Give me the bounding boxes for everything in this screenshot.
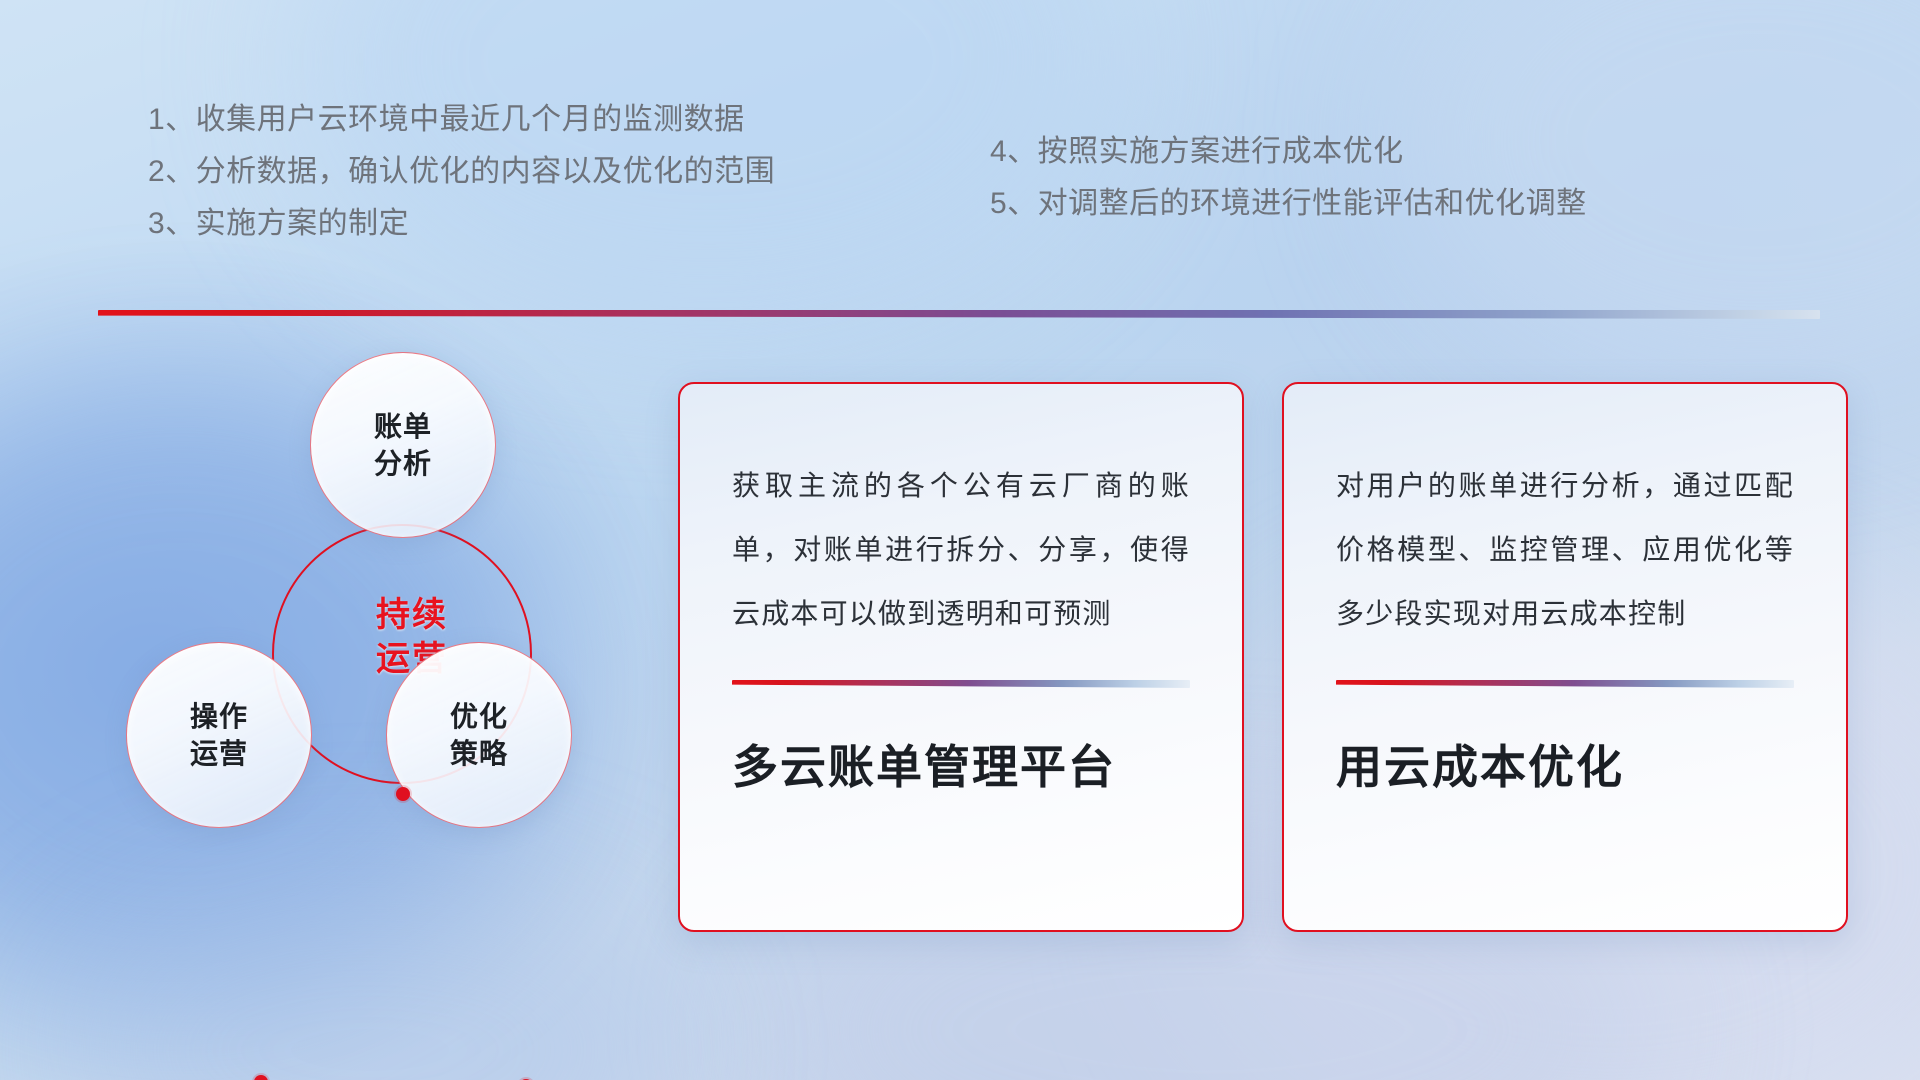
card-2-title: 用云成本优化 bbox=[1336, 742, 1794, 793]
venn-bubble-billing-analysis[interactable]: 账单 分析 bbox=[310, 352, 496, 538]
slide-canvas: 1、收集用户云环境中最近几个月的监测数据 2、分析数据，确认优化的内容以及优化的… bbox=[0, 0, 1920, 1080]
card-2-divider bbox=[1336, 680, 1794, 688]
venn-bubble-2-line-2: 运营 bbox=[190, 737, 248, 770]
venn-bubble-optimization-strategy[interactable]: 优化 策略 bbox=[386, 642, 572, 828]
venn-bubble-1-line-1: 账单 bbox=[374, 410, 432, 443]
venn-node-dot-left bbox=[254, 1075, 268, 1080]
venn-node-dot-top bbox=[396, 787, 410, 801]
venn-bubble-operations[interactable]: 操作 运营 bbox=[126, 642, 312, 828]
step-item-1: 1、收集用户云环境中最近几个月的监测数据 bbox=[148, 94, 848, 146]
card-1-body: 获取主流的各个公有云厂商的账单，对账单进行拆分、分享，使得云成本可以做到透明和可… bbox=[732, 454, 1190, 646]
steps-list-right: 4、按照实施方案进行成本优化 5、对调整后的环境进行性能评估和优化调整 bbox=[990, 126, 1730, 230]
card-cloud-cost-optimization[interactable]: 对用户的账单进行分析，通过匹配价格模型、监控管理、应用优化等多少段实现对用云成本… bbox=[1282, 382, 1848, 932]
card-2-body: 对用户的账单进行分析，通过匹配价格模型、监控管理、应用优化等多少段实现对用云成本… bbox=[1336, 454, 1794, 646]
step-item-2: 2、分析数据，确认优化的内容以及优化的范围 bbox=[148, 146, 848, 198]
venn-center-line-1: 持续 bbox=[332, 594, 492, 638]
venn-bubble-2-line-1: 操作 bbox=[190, 700, 248, 733]
card-1-title: 多云账单管理平台 bbox=[732, 742, 1190, 793]
venn-bubble-3-line-2: 策略 bbox=[450, 737, 508, 770]
card-1-divider bbox=[732, 680, 1190, 688]
venn-diagram: 持续 运营 账单 分析 操作 运营 优化 策略 bbox=[100, 352, 620, 922]
venn-bubble-1-line-2: 分析 bbox=[374, 447, 432, 480]
step-item-3: 3、实施方案的制定 bbox=[148, 198, 848, 250]
card-multicloud-billing-platform[interactable]: 获取主流的各个公有云厂商的账单，对账单进行拆分、分享，使得云成本可以做到透明和可… bbox=[678, 382, 1244, 932]
step-item-5: 5、对调整后的环境进行性能评估和优化调整 bbox=[990, 178, 1730, 230]
step-item-4: 4、按照实施方案进行成本优化 bbox=[990, 126, 1730, 178]
venn-bubble-3-line-1: 优化 bbox=[450, 700, 508, 733]
steps-list-left: 1、收集用户云环境中最近几个月的监测数据 2、分析数据，确认优化的内容以及优化的… bbox=[148, 94, 848, 250]
section-divider-rule bbox=[98, 310, 1820, 319]
